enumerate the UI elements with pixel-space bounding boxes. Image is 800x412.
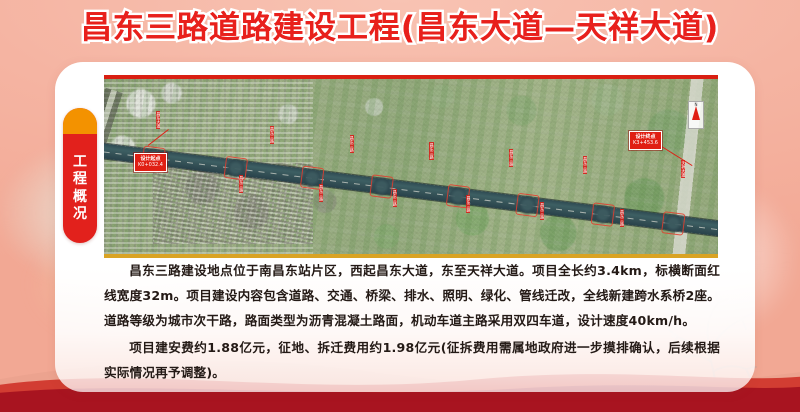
badge-char-4: 况	[73, 206, 87, 223]
badge-char-3: 概	[73, 189, 87, 206]
intersection-node	[660, 211, 685, 236]
poster-root: 昌东三路道路建设工程(昌东大道—天祥大道) 昌东三路道路建设工程(昌东大道—天祥…	[0, 0, 800, 412]
start-callout-station: K0+032.4	[138, 162, 163, 168]
end-callout-station: K3+453.6	[633, 140, 658, 146]
paragraph-1: 昌东三路建设地点位于南昌东站片区，西起昌东大道，东至天祥大道。项目全长约3.4k…	[104, 258, 720, 333]
map-street-label: 昌东三路	[239, 175, 243, 193]
map-street-label: 昌东三路	[509, 149, 513, 167]
map-street-label: 昌东三路	[466, 195, 470, 213]
paragraph-2: 项目建安费约1.88亿元，征地、拆迁费用约1.98亿元(征拆费用需属地政府进一步…	[104, 335, 720, 385]
poster-title-outline: 昌东三路道路建设工程(昌东大道—天祥大道)	[0, 6, 800, 50]
map-street-label: 昌东三路	[319, 184, 323, 202]
north-arrow-icon: N	[688, 101, 704, 129]
satellite-alignment-map[interactable]: 昌东大道 昌东三路 昌东三路 昌东三路 昌东三路 昌东三路 天祥大道 昌东三路 …	[104, 75, 718, 258]
map-street-label: 天祥大道	[681, 160, 685, 178]
end-point-callout: 设计终点 K3+453.6	[629, 131, 662, 150]
map-street-label: 昌东三路	[350, 135, 354, 153]
map-street-label: 昌东三路	[393, 189, 397, 207]
map-street-label: 昌东三路	[620, 209, 624, 227]
project-overview-text: 昌东三路建设地点位于南昌东站片区，西起昌东大道，东至天祥大道。项目全长约3.4k…	[104, 258, 720, 385]
section-badge-cap	[63, 108, 97, 134]
intersection-node	[591, 202, 616, 227]
start-point-callout: 设计起点 K0+032.4	[134, 153, 167, 172]
badge-char-1: 工	[73, 154, 87, 171]
intersection-node	[369, 174, 394, 199]
map-street-label: 昌东大道	[156, 111, 160, 129]
map-street-label: 昌东三路	[429, 142, 433, 160]
map-street-label: 昌东三路	[270, 126, 274, 144]
badge-char-2: 程	[73, 171, 87, 188]
north-arrow-head	[692, 106, 700, 120]
intersection-node	[515, 193, 540, 218]
intersection-node	[223, 156, 248, 181]
page-title: 昌东三路道路建设工程(昌东大道—天祥大道)	[81, 6, 719, 50]
map-street-label: 昌东三路	[540, 202, 544, 220]
section-badge-project-overview: 工 程 概 况	[63, 108, 97, 243]
map-street-label: 昌东三路	[583, 156, 587, 174]
section-badge-text: 工 程 概 况	[63, 134, 97, 243]
map-imagery: 昌东大道 昌东三路 昌东三路 昌东三路 昌东三路 昌东三路 天祥大道 昌东三路 …	[104, 79, 718, 254]
